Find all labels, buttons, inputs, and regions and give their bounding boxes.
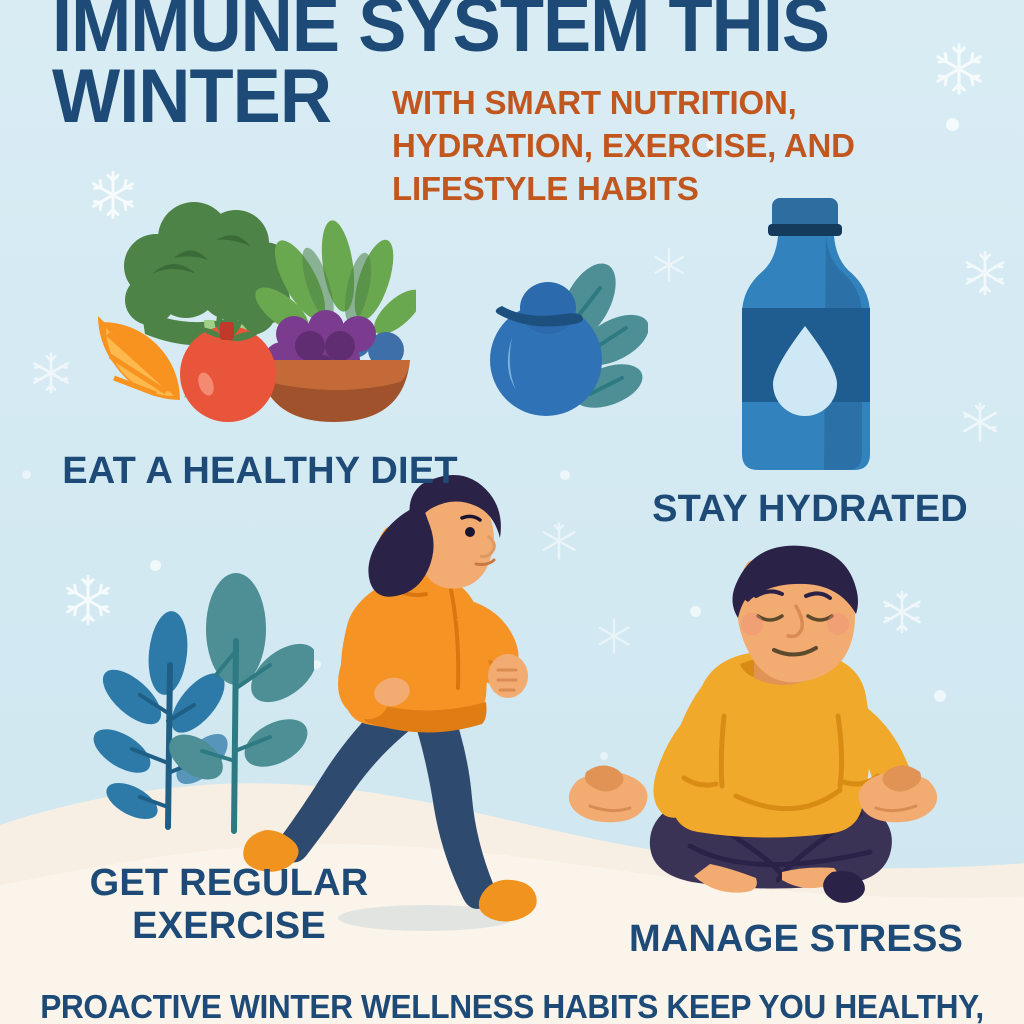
caption-stay-hydrated: STAY HYDRATED <box>610 488 1010 531</box>
meditating-man-icon <box>560 540 1000 925</box>
infographic-poster: IMMUNE SYSTEM THIS WINTER WITH SMART NUT… <box>0 0 1024 1024</box>
snow-dot <box>22 470 31 479</box>
caption-eat-a-healthy-diet: EAT A HEALTHY DIET <box>60 450 460 493</box>
page-subtitle: WITH SMART NUTRITION, HYDRATION, EXERCIS… <box>392 82 912 211</box>
snow-dot <box>946 118 959 131</box>
healthy-food-bowl-icon <box>86 188 416 438</box>
footer-text: PROACTIVE WINTER WELLNESS HABITS KEEP YO… <box>20 988 1003 1024</box>
blueberry-icon <box>468 258 648 433</box>
water-bottle-icon <box>716 190 896 480</box>
caption-manage-stress: MANAGE STRESS <box>596 918 996 961</box>
caption-get-regular-exercise: GET REGULAR EXERCISE <box>44 862 414 949</box>
